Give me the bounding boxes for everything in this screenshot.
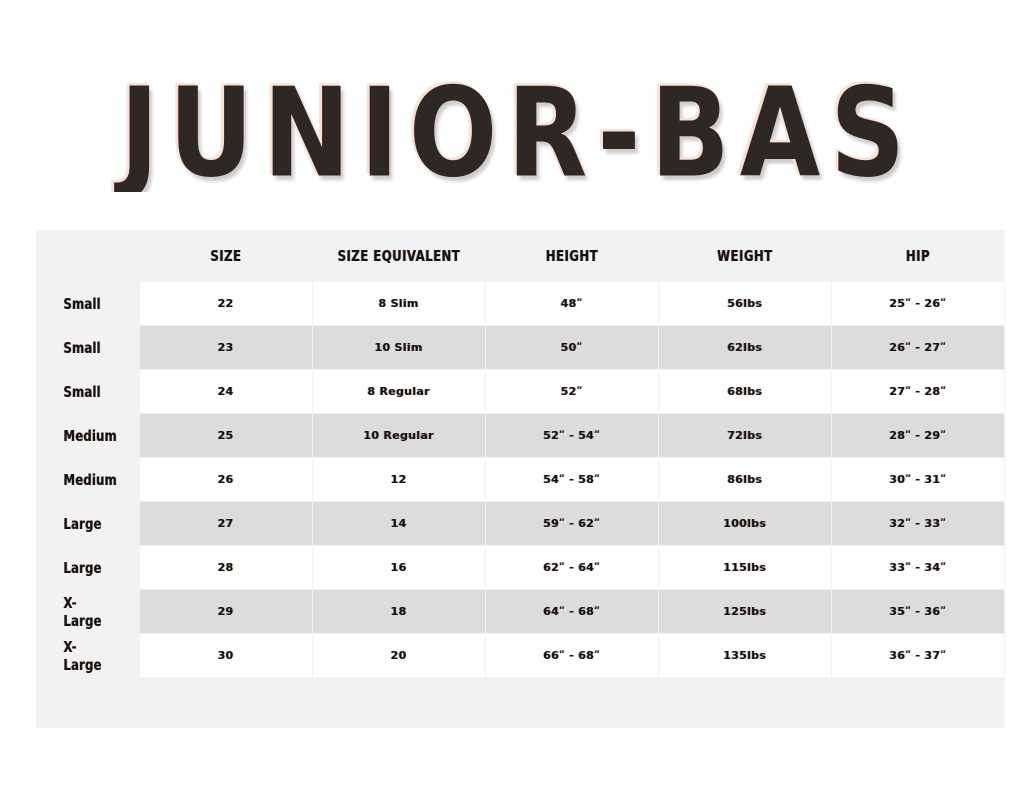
- table-row: Large 27 14 59ʺ - 62ʺ 100lbs 32ʺ - 33ʺ: [37, 502, 1004, 545]
- cell-size-equivalent: 14: [313, 502, 485, 545]
- cell-size: 28: [140, 546, 312, 589]
- column-header-hip: HIP: [851, 231, 985, 281]
- row-label: X-Large: [37, 590, 116, 633]
- column-header-size-equivalent: SIZE EQUIVALENT: [332, 231, 466, 281]
- cell-height: 66ʺ - 68ʺ: [486, 634, 658, 677]
- cell-hip: 32ʺ - 33ʺ: [832, 502, 1004, 545]
- cell-weight: 62lbs: [659, 326, 831, 369]
- size-chart-panel: SIZE SIZE EQUIVALENT HEIGHT WEIGHT HIP S…: [36, 230, 1005, 728]
- cell-hip: 36ʺ - 37ʺ: [832, 634, 1004, 677]
- cell-size-equivalent: 8 Slim: [313, 282, 485, 325]
- row-label: Small: [37, 370, 116, 413]
- cell-size: 29: [140, 590, 312, 633]
- cell-height: 62ʺ - 64ʺ: [486, 546, 658, 589]
- table-row: X-Large 29 18 64ʺ - 68ʺ 125lbs 35ʺ - 36ʺ: [37, 590, 1004, 633]
- cell-size: 27: [140, 502, 312, 545]
- cell-height: 64ʺ - 68ʺ: [486, 590, 658, 633]
- size-chart-table: SIZE SIZE EQUIVALENT HEIGHT WEIGHT HIP S…: [36, 230, 1005, 678]
- cell-size: 22: [140, 282, 312, 325]
- table-row: X-Large 30 20 66ʺ - 68ʺ 135lbs 36ʺ - 37ʺ: [37, 634, 1004, 677]
- cell-height: 52ʺ: [486, 370, 658, 413]
- row-label: Medium: [37, 414, 116, 457]
- row-label: Small: [37, 326, 116, 369]
- cell-size: 23: [140, 326, 312, 369]
- cell-size: 30: [140, 634, 312, 677]
- cell-height: 54ʺ - 58ʺ: [486, 458, 658, 501]
- table-body: Small 22 8 Slim 48ʺ 56lbs 25ʺ - 26ʺ Smal…: [37, 282, 1004, 677]
- cell-weight: 115lbs: [659, 546, 831, 589]
- row-label: Small: [37, 282, 116, 325]
- cell-weight: 56lbs: [659, 282, 831, 325]
- row-label: Large: [37, 546, 116, 589]
- cell-weight: 68lbs: [659, 370, 831, 413]
- table-row: Small 24 8 Regular 52ʺ 68lbs 27ʺ - 28ʺ: [37, 370, 1004, 413]
- cell-height: 48ʺ: [486, 282, 658, 325]
- column-header-height: HEIGHT: [505, 231, 639, 281]
- table-header: SIZE SIZE EQUIVALENT HEIGHT WEIGHT HIP: [37, 231, 1004, 281]
- table-row: Small 23 10 Slim 50ʺ 62lbs 26ʺ - 27ʺ: [37, 326, 1004, 369]
- cell-size-equivalent: 12: [313, 458, 485, 501]
- column-header-rowlabel: [37, 231, 139, 281]
- table-row: Small 22 8 Slim 48ʺ 56lbs 25ʺ - 26ʺ: [37, 282, 1004, 325]
- cell-weight: 86lbs: [659, 458, 831, 501]
- cell-size: 25: [140, 414, 312, 457]
- cell-hip: 27ʺ - 28ʺ: [832, 370, 1004, 413]
- cell-hip: 33ʺ - 34ʺ: [832, 546, 1004, 589]
- cell-weight: 100lbs: [659, 502, 831, 545]
- cell-weight: 72lbs: [659, 414, 831, 457]
- cell-hip: 35ʺ - 36ʺ: [832, 590, 1004, 633]
- column-header-size: SIZE: [159, 231, 293, 281]
- cell-size: 26: [140, 458, 312, 501]
- row-label: Medium: [37, 458, 116, 501]
- cell-hip: 30ʺ - 31ʺ: [832, 458, 1004, 501]
- cell-height: 52ʺ - 54ʺ: [486, 414, 658, 457]
- cell-size-equivalent: 10 Slim: [313, 326, 485, 369]
- table-header-row: SIZE SIZE EQUIVALENT HEIGHT WEIGHT HIP: [37, 231, 1004, 281]
- column-header-weight: WEIGHT: [678, 231, 812, 281]
- cell-hip: 28ʺ - 29ʺ: [832, 414, 1004, 457]
- table-row: Medium 26 12 54ʺ - 58ʺ 86lbs 30ʺ - 31ʺ: [37, 458, 1004, 501]
- cell-size-equivalent: 20: [313, 634, 485, 677]
- title-area: JUNIOR-BAS: [0, 62, 1024, 192]
- cell-size-equivalent: 18: [313, 590, 485, 633]
- table-row: Medium 25 10 Regular 52ʺ - 54ʺ 72lbs 28ʺ…: [37, 414, 1004, 457]
- cell-weight: 125lbs: [659, 590, 831, 633]
- table-row: Large 28 16 62ʺ - 64ʺ 115lbs 33ʺ - 34ʺ: [37, 546, 1004, 589]
- cell-weight: 135lbs: [659, 634, 831, 677]
- cell-size: 24: [140, 370, 312, 413]
- cell-hip: 26ʺ - 27ʺ: [832, 326, 1004, 369]
- cell-hip: 25ʺ - 26ʺ: [832, 282, 1004, 325]
- cell-height: 59ʺ - 62ʺ: [486, 502, 658, 545]
- cell-size-equivalent: 16: [313, 546, 485, 589]
- row-label: X-Large: [37, 634, 116, 677]
- page-title: JUNIOR-BAS: [120, 62, 915, 192]
- cell-size-equivalent: 8 Regular: [313, 370, 485, 413]
- cell-height: 50ʺ: [486, 326, 658, 369]
- cell-size-equivalent: 10 Regular: [313, 414, 485, 457]
- row-label: Large: [37, 502, 116, 545]
